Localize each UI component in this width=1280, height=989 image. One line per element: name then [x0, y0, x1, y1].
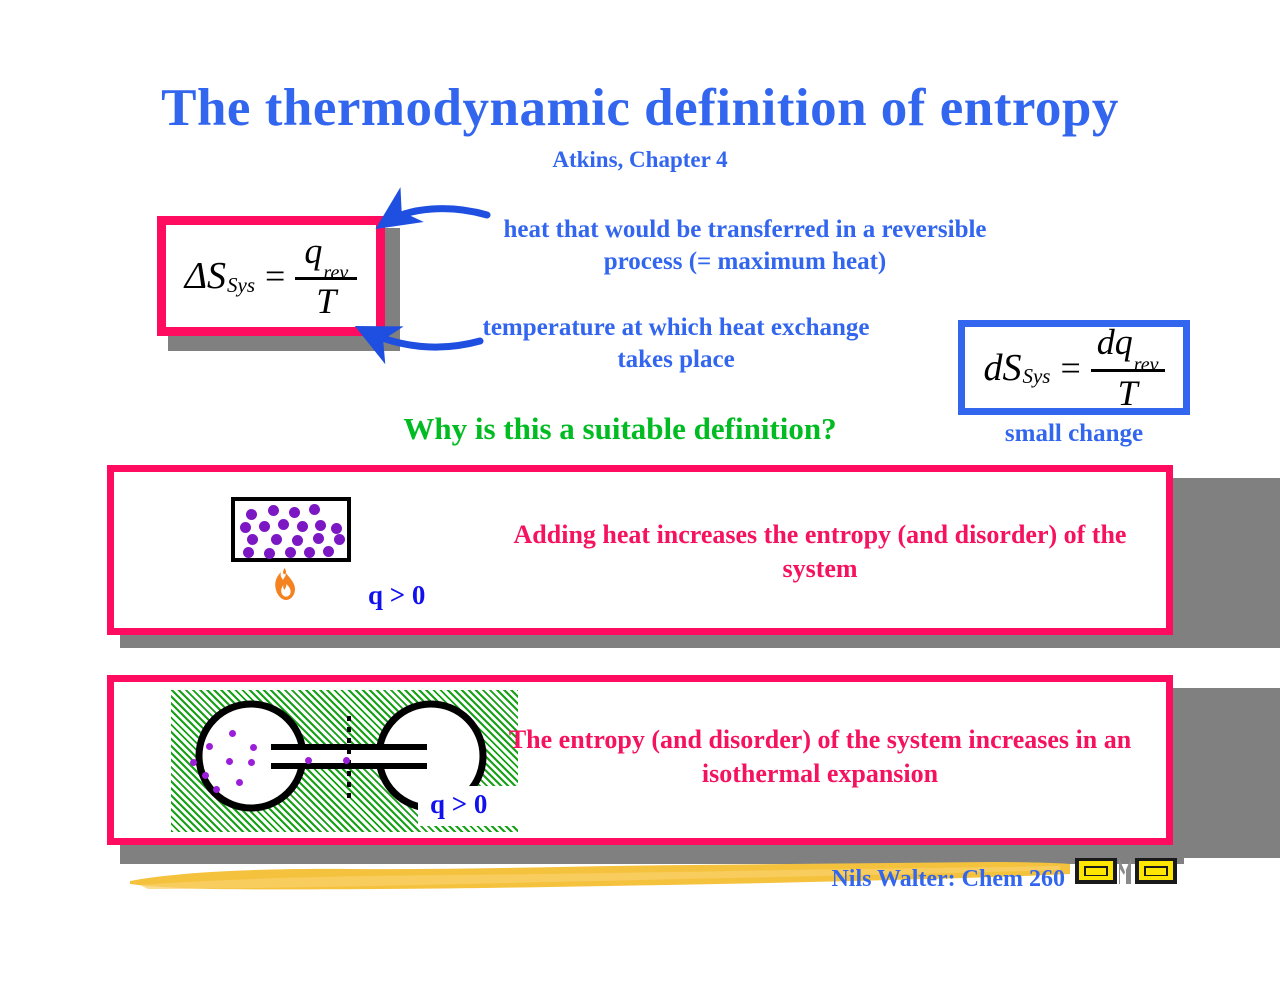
gas-particle — [304, 547, 315, 558]
gas-particle — [243, 547, 254, 558]
gas-particle — [236, 779, 243, 786]
gas-particle — [229, 730, 236, 737]
author-credit: Nils Walter: Chem 260 — [700, 866, 1065, 893]
panel-heating-text: Adding heat increases the entropy (and d… — [480, 518, 1160, 587]
slide-canvas: The thermodynamic definition of entropy … — [0, 0, 1280, 989]
gas-particle — [206, 743, 213, 750]
slide-subtitle: Atkins, Chapter 4 — [0, 147, 1280, 173]
equation-main-fraction: qrev T — [295, 233, 357, 319]
equation-main-lhs-subscript: Sys — [227, 273, 255, 298]
small-change-caption: small change — [958, 420, 1190, 448]
gas-particle — [323, 546, 334, 557]
university-logo-icon — [1073, 855, 1181, 889]
panel-expansion-text: The entropy (and disorder) of the system… — [480, 723, 1160, 792]
gas-particle — [226, 758, 233, 765]
equation-main-numerator-subscript: rev — [323, 262, 348, 284]
equation-differential-lhs-subscript: Sys — [1022, 364, 1050, 389]
gas-particle — [248, 759, 255, 766]
equation-differential-formula: dSSys = dqrev T — [983, 324, 1164, 410]
equation-main-equals: = — [265, 255, 285, 297]
gas-particle — [289, 507, 300, 518]
gas-particle — [313, 533, 324, 544]
equation-differential-lhs: dS — [983, 346, 1021, 390]
gas-particle — [247, 534, 258, 545]
gas-particle — [292, 535, 303, 546]
gas-particle — [309, 504, 320, 515]
equation-differential-equals: = — [1060, 347, 1080, 389]
gas-particle — [264, 548, 275, 559]
flame-icon — [272, 568, 298, 604]
arrow-to-qrev — [383, 209, 487, 224]
equation-differential-numerator-subscript: rev — [1134, 354, 1159, 376]
gas-particle — [305, 757, 312, 764]
equation-differential-numerator: dqrev — [1091, 324, 1165, 368]
gas-particle — [285, 547, 296, 558]
heat-label-panel2: q > 0 — [430, 789, 487, 820]
slide-title: The thermodynamic definition of entropy — [0, 78, 1280, 138]
gas-particle — [240, 522, 251, 533]
equation-main-formula: ΔSSys = qrev T — [185, 233, 358, 319]
gas-particle — [315, 520, 326, 531]
gas-particle — [343, 757, 350, 764]
gas-particle — [297, 521, 308, 532]
gas-particle — [259, 521, 270, 532]
equation-differential-box: dSSys = dqrev T — [958, 320, 1190, 415]
question-text: Why is this a suitable definition? — [300, 411, 940, 447]
gas-particle — [268, 505, 279, 516]
gas-particle — [271, 534, 282, 545]
gas-container-box — [231, 497, 351, 562]
annotation-temperature: temperature at which heat exchange takes… — [466, 312, 886, 376]
equation-differential-fraction: dqrev T — [1091, 324, 1165, 410]
equation-main-denominator: T — [310, 280, 342, 319]
gas-particle — [246, 509, 257, 520]
gas-particle — [278, 519, 289, 530]
gas-particle — [331, 523, 342, 534]
gas-particle — [250, 744, 257, 751]
equation-differential-denominator: T — [1112, 372, 1144, 411]
equation-main-numerator-symbol: q — [304, 231, 322, 271]
gas-particle — [334, 534, 345, 545]
equation-main-lhs: ΔS — [185, 254, 226, 298]
gas-particle — [213, 786, 220, 793]
gas-particle — [202, 772, 209, 779]
equation-main-numerator: qrev — [298, 233, 354, 277]
equation-differential-numerator-symbol: dq — [1097, 322, 1133, 362]
heat-label-panel1: q > 0 — [368, 580, 425, 611]
annotation-qrev: heat that would be transferred in a reve… — [480, 214, 1010, 278]
equation-main-box: ΔSSys = qrev T — [157, 216, 385, 336]
gas-particle — [190, 759, 197, 766]
